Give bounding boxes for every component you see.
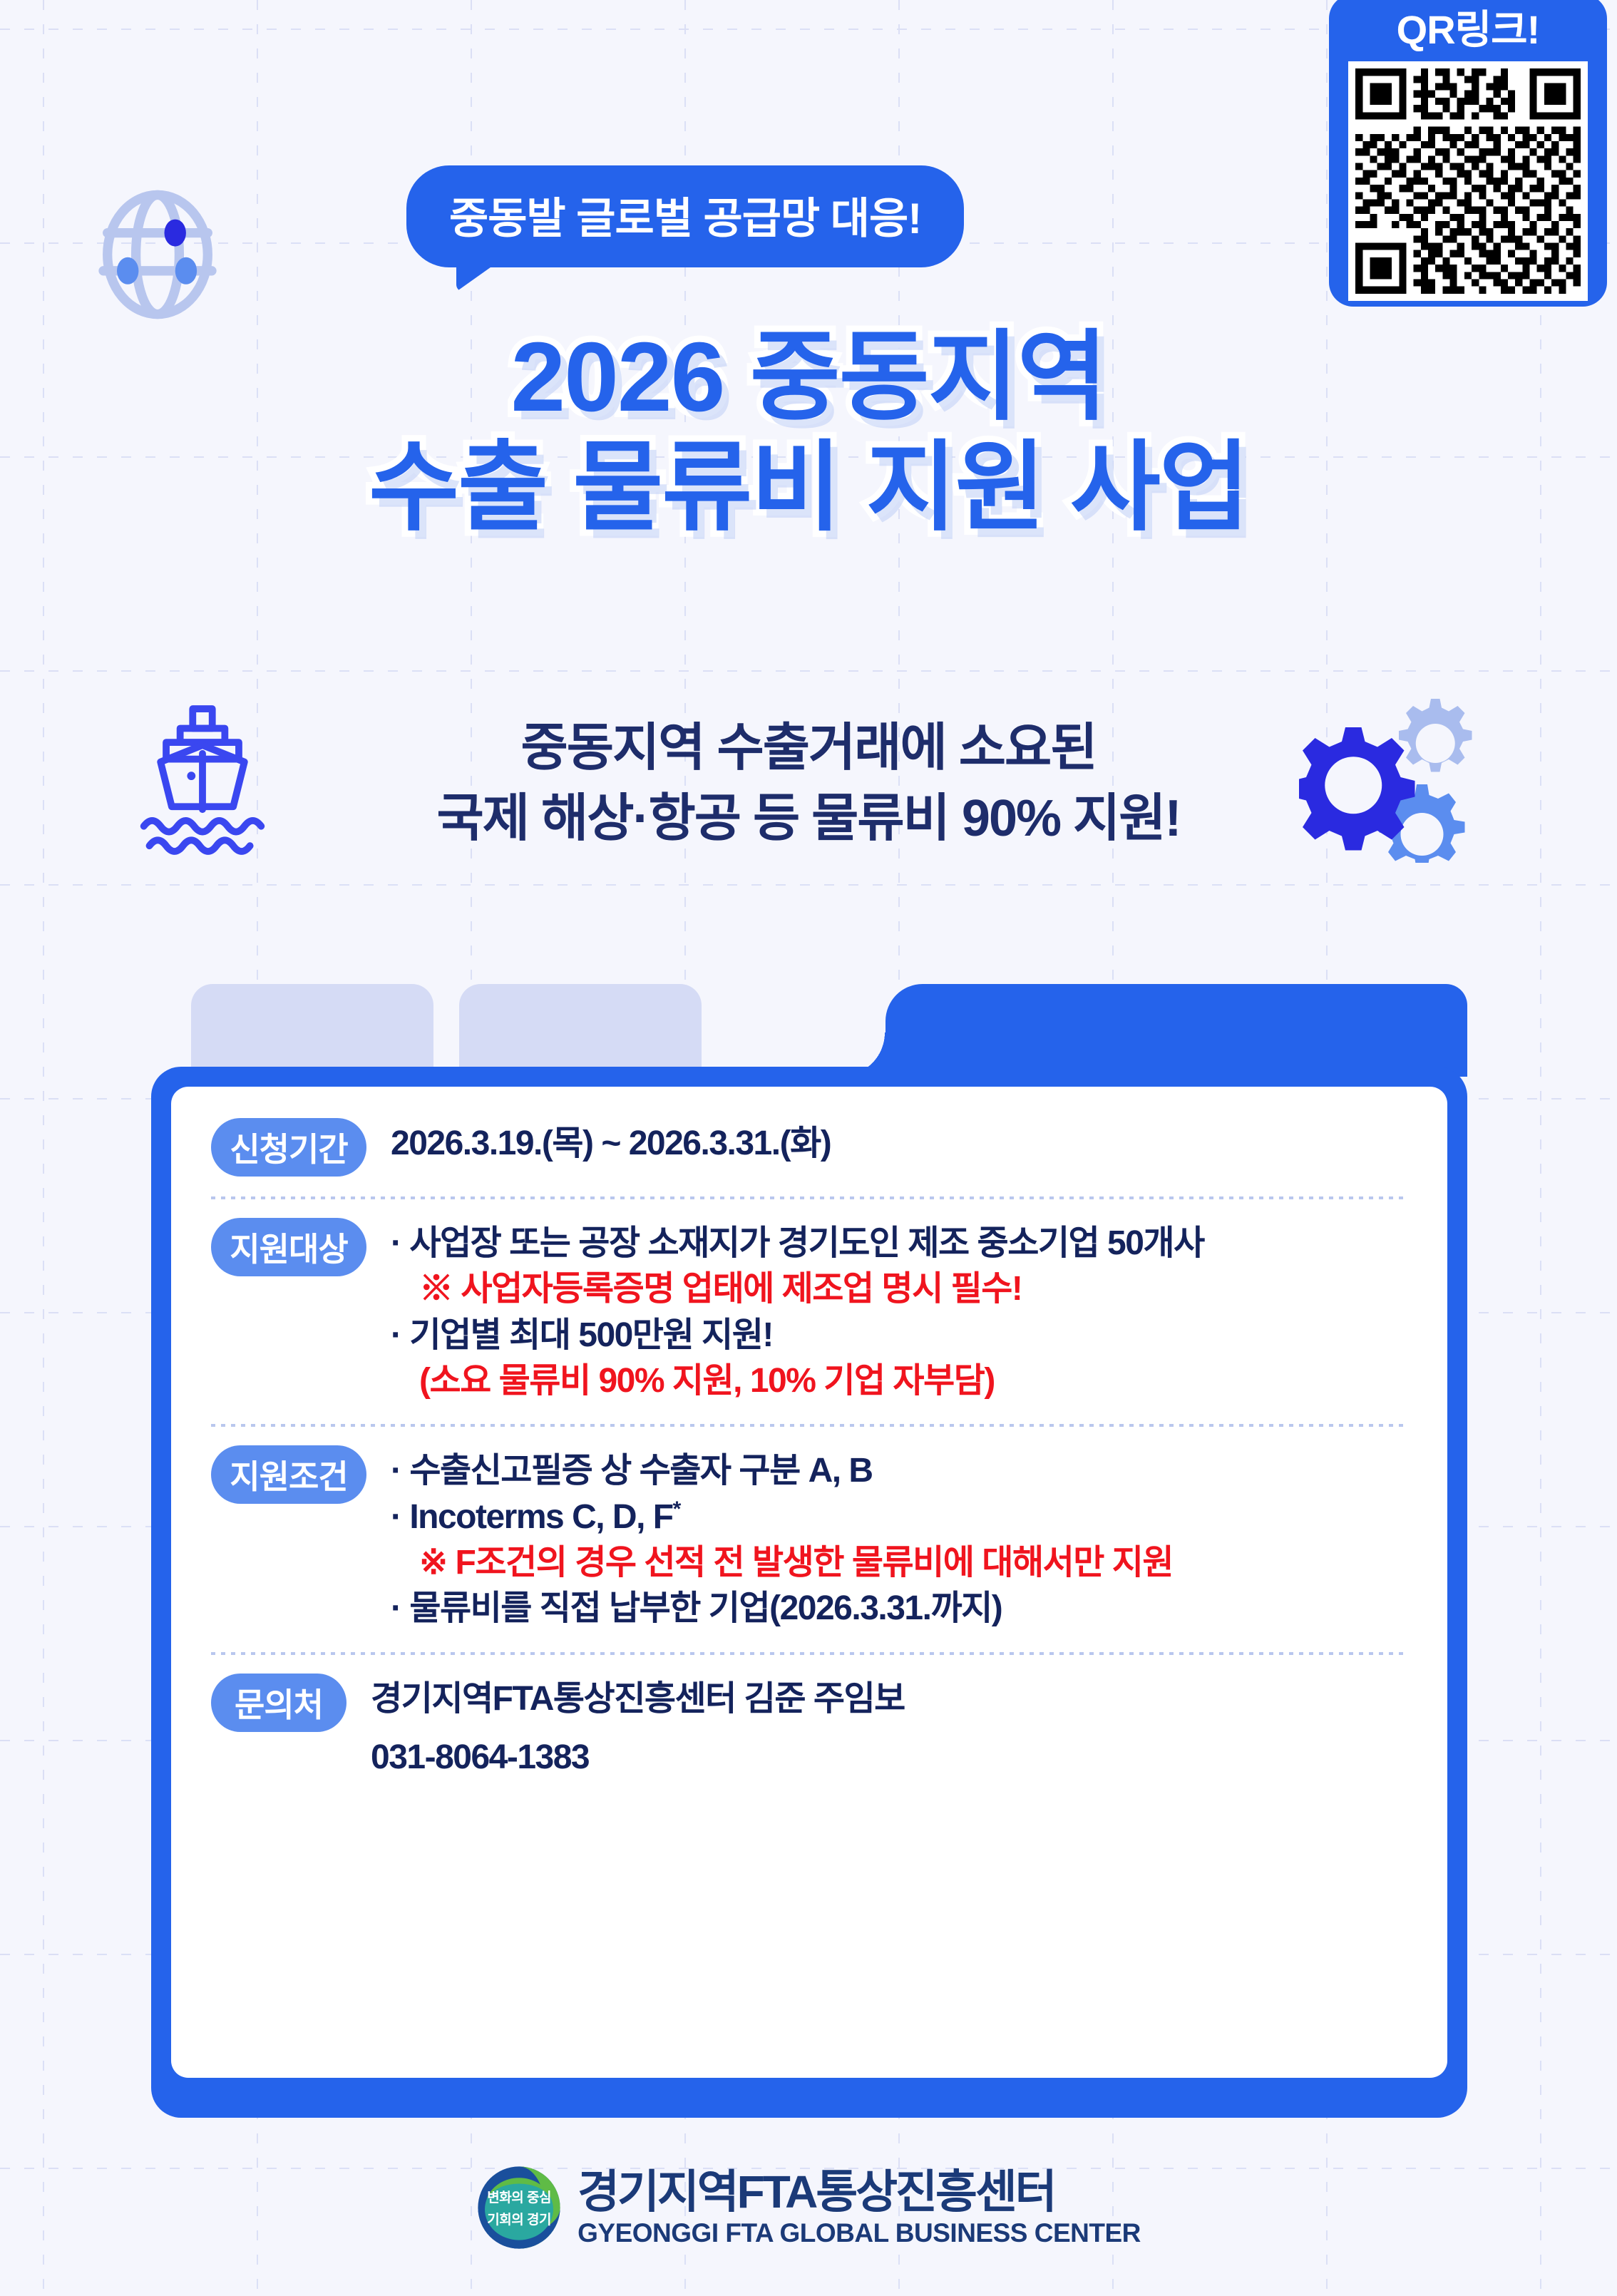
folder-tab-1 [191,984,433,1077]
info-row-conditions: 지원조건 · 수출신고필증 상 수출자 구분 A, B · Incoterms … [211,1445,1407,1631]
card-content: 신청기간 2026.3.19.(목) ~ 2026.3.31.(화) 지원대상 … [171,1087,1447,2078]
info-row-contact: 문의처 경기지역FTA통상진흥센터 김준 주임보 031-8064-1383 [211,1674,1407,1781]
subtitle: 중동지역 수출거래에 소요된 국제 해상·항공 등 물류비 90% 지원! [0,713,1617,855]
row-separator [211,1652,1407,1655]
info-line-alert: ※ F조건의 경우 선적 전 발생한 물류비에 대해서만 지원 [391,1540,1407,1586]
info-row-eligibility: 지원대상 · 사업장 또는 공장 소재지가 경기도인 제조 중소기업 50개사 … [211,1218,1407,1404]
contact-office: 경기지역FTA통상진흥센터 김준 주임보 [371,1676,1407,1722]
contact-phone[interactable]: 031-8064-1383 [371,1735,1407,1780]
row-label-pill: 지원대상 [211,1218,366,1276]
row-label-pill: 신청기간 [211,1118,366,1177]
info-line-incoterms: · Incoterms C, D, F* [391,1495,1407,1540]
row-separator [211,1196,1407,1199]
info-line-alert: (소요 물류비 90% 지원, 10% 기업 자부담) [391,1358,1407,1404]
incoterms-text: · Incoterms C, D, F [391,1498,673,1536]
gyeonggi-emblem-icon: 변화의 중심 기회의 경기 [476,2165,562,2250]
folder-tab-2 [459,984,702,1077]
title-line-2: 수출 물류비 지원 사업 [0,433,1617,543]
title-line-1: 2026 중동지역 [0,322,1617,433]
folder-tab-3-active [885,984,1467,1077]
info-line: · 기업별 최대 500만원 지원! [391,1313,1407,1358]
info-row-application-period: 신청기간 2026.3.19.(목) ~ 2026.3.31.(화) [211,1118,1407,1177]
footnote-asterisk: * [673,1497,680,1521]
qr-label: QR링크! [1397,10,1540,50]
globe-icon [90,187,225,322]
info-line: · 사업장 또는 공장 소재지가 경기도인 제조 중소기업 50개사 [391,1221,1407,1266]
org-name-english: GYEONGGI FTA GLOBAL BUSINESS CENTER [577,2220,1141,2246]
row-label-pill: 문의처 [211,1674,346,1732]
org-name-korean: 경기지역FTA통상진흥센터 [577,2169,1141,2215]
info-line: 2026.3.19.(목) ~ 2026.3.31.(화) [391,1121,1407,1167]
page-title: 2026 중동지역 수출 물류비 지원 사업 [0,322,1617,543]
row-label-pill: 지원조건 [211,1445,366,1504]
callout-bubble: 중동발 글로벌 공급망 대응! [406,165,964,267]
emblem-line-2: 기회의 경기 [487,2209,551,2228]
qr-code-icon[interactable] [1348,61,1588,301]
subtitle-line-1: 중동지역 수출거래에 소요된 [0,713,1617,784]
footer-logo: 변화의 중심 기회의 경기 경기지역FTA통상진흥센터 GYEONGGI FTA… [0,2165,1617,2250]
qr-link-block[interactable]: QR링크! [1329,0,1607,307]
callout-text: 중동발 글로벌 공급망 대응! [449,195,921,242]
info-line-alert: ※ 사업자등록증명 업태에 제조업 명시 필수! [391,1266,1407,1312]
info-line: · 물류비를 직접 납부한 기업(2026.3.31.까지) [391,1586,1407,1631]
card-border: 신청기간 2026.3.19.(목) ~ 2026.3.31.(화) 지원대상 … [151,1067,1467,2118]
info-line: · 수출신고필증 상 수출자 구분 A, B [391,1448,1407,1494]
row-separator [211,1424,1407,1427]
emblem-line-1: 변화의 중심 [487,2187,551,2206]
subtitle-line-2: 국제 해상·항공 등 물류비 90% 지원! [0,784,1617,854]
info-folder-card: 신청기간 2026.3.19.(목) ~ 2026.3.31.(화) 지원대상 … [151,984,1467,2118]
